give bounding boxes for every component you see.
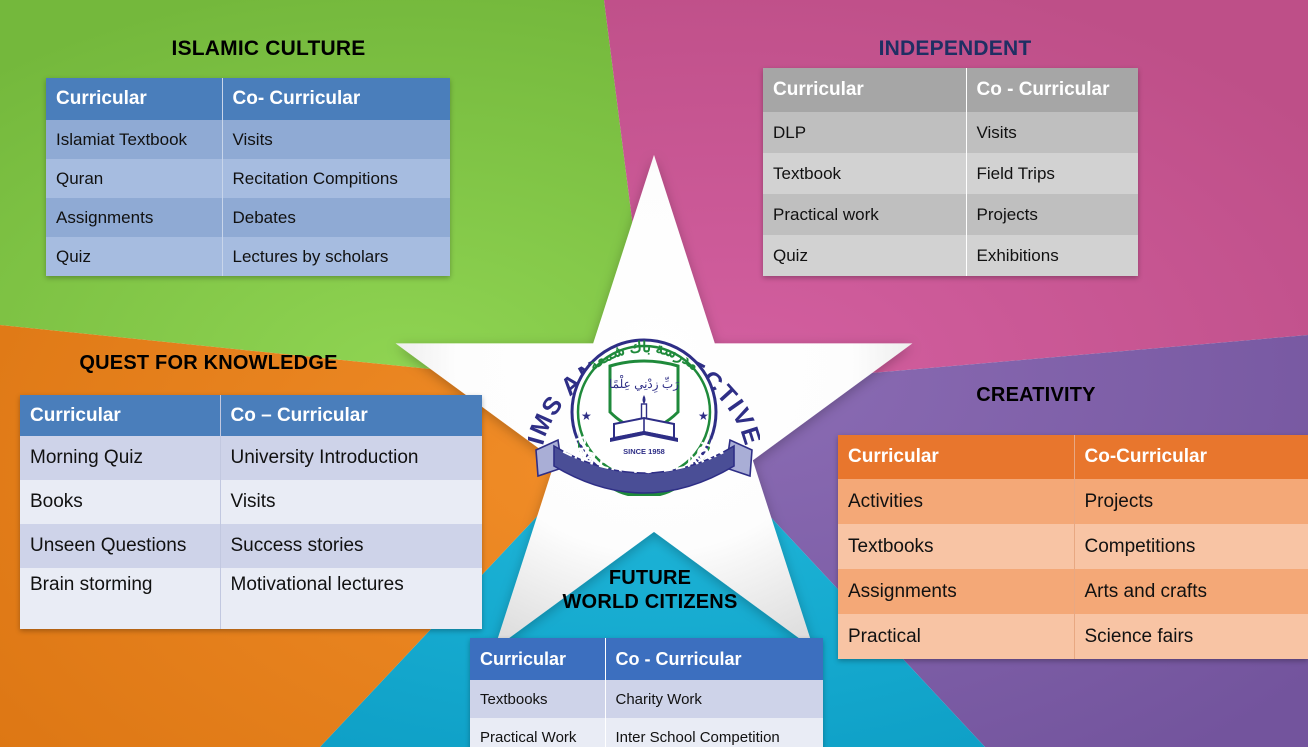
cell-curricular: Quran [46, 159, 222, 198]
table-row: Practical Science fairs [838, 614, 1308, 659]
column-header-co-curricular: Co - Curricular [966, 68, 1138, 112]
table-header-row: Curricular Co - Curricular [470, 638, 823, 680]
cell-curricular: Textbooks [470, 680, 605, 718]
table-independent: Curricular Co - Curricular DLP Visits Te… [763, 68, 1138, 276]
logo-arabic-motto: رَبِّ زِدْنِي عِلْمًا [609, 374, 679, 393]
table-row: DLP Visits [763, 112, 1138, 153]
cell-curricular: Books [20, 480, 220, 524]
table-header-row: Curricular Co - Curricular [763, 68, 1138, 112]
table-row: Assignments Debates [46, 198, 450, 237]
aims-and-objectives-infographic: AIMS AND OBJECTIVES مدرسة باك شمعة PAK S… [0, 0, 1308, 747]
table-row: Books Visits [20, 480, 482, 524]
column-header-co-curricular: Co-Curricular [1074, 435, 1308, 479]
logo-since-text: SINCE 1958 [623, 447, 665, 456]
cell-curricular: Islamiat Textbook [46, 120, 222, 159]
table-header-row: Curricular Co-Curricular [838, 435, 1308, 479]
cell-curricular: Assignments [838, 569, 1074, 614]
cell-co-curricular: Motivational lectures [220, 568, 482, 629]
column-header-curricular: Curricular [763, 68, 966, 112]
table-row: Textbook Field Trips [763, 153, 1138, 194]
cell-co-curricular: Inter School Competition [605, 718, 823, 747]
cell-co-curricular: Recitation Compitions [222, 159, 450, 198]
cell-co-curricular: Visits [222, 120, 450, 159]
cell-curricular: Quiz [46, 237, 222, 276]
cell-co-curricular: Lectures by scholars [222, 237, 450, 276]
table-row: Assignments Arts and crafts [838, 569, 1308, 614]
table-row: Textbooks Charity Work [470, 680, 823, 718]
cell-co-curricular: Debates [222, 198, 450, 237]
cell-co-curricular: Exhibitions [966, 235, 1138, 276]
table-row: Textbooks Competitions [838, 524, 1308, 569]
cell-co-curricular: Projects [966, 194, 1138, 235]
table-row: Quiz Lectures by scholars [46, 237, 450, 276]
column-header-curricular: Curricular [46, 78, 222, 120]
cell-curricular: DLP [763, 112, 966, 153]
table-header-row: Curricular Co- Curricular [46, 78, 450, 120]
cell-co-curricular: Field Trips [966, 153, 1138, 194]
table-row: Activities Projects [838, 479, 1308, 524]
table-row: Unseen Questions Success stories [20, 524, 482, 568]
cell-curricular: Unseen Questions [20, 524, 220, 568]
logo-star-right-icon: ★ [698, 409, 709, 423]
column-header-curricular: Curricular [470, 638, 605, 680]
cell-curricular: Activities [838, 479, 1074, 524]
cell-co-curricular: Projects [1074, 479, 1308, 524]
cell-co-curricular: Success stories [220, 524, 482, 568]
cell-co-curricular: Charity Work [605, 680, 823, 718]
column-header-curricular: Curricular [838, 435, 1074, 479]
section-title-islamic-culture: ISLAMIC CULTURE [96, 36, 441, 62]
cell-curricular: Assignments [46, 198, 222, 237]
section-title-independent: INDEPENDENT [805, 36, 1105, 62]
section-title-creativity: CREATIVITY [880, 383, 1192, 407]
column-header-co-curricular: Co – Curricular [220, 395, 482, 436]
cell-curricular: Practical work [763, 194, 966, 235]
column-header-co-curricular: Co - Curricular [605, 638, 823, 680]
cell-co-curricular: Visits [966, 112, 1138, 153]
cell-curricular: Quiz [763, 235, 966, 276]
cell-curricular: Brain storming [20, 568, 220, 629]
column-header-co-curricular: Co- Curricular [222, 78, 450, 120]
table-islamic-culture: Curricular Co- Curricular Islamiat Textb… [46, 78, 450, 276]
logo-star-left-icon: ★ [581, 409, 592, 423]
table-quest-for-knowledge: Curricular Co – Curricular Morning Quiz … [20, 395, 482, 629]
cell-curricular: Practical [838, 614, 1074, 659]
table-header-row: Curricular Co – Curricular [20, 395, 482, 436]
table-creativity: Curricular Co-Curricular Activities Proj… [838, 435, 1308, 659]
column-header-curricular: Curricular [20, 395, 220, 436]
table-row: Quran Recitation Compitions [46, 159, 450, 198]
table-row: Brain storming Motivational lectures [20, 568, 482, 629]
cell-co-curricular: Visits [220, 480, 482, 524]
cell-curricular: Textbooks [838, 524, 1074, 569]
cell-co-curricular: Science fairs [1074, 614, 1308, 659]
cell-curricular: Textbook [763, 153, 966, 194]
table-future-world-citizens: Curricular Co - Curricular Textbooks Cha… [470, 638, 823, 747]
section-title-future-world-citizens: FUTURE WORLD CITIZENS [500, 566, 800, 615]
school-logo: AIMS AND OBJECTIVES مدرسة باك شمعة PAK S… [528, 300, 760, 496]
table-row: Morning Quiz University Introduction [20, 436, 482, 480]
section-title-quest-for-knowledge: QUEST FOR KNOWLEDGE [36, 351, 381, 375]
cell-co-curricular: Arts and crafts [1074, 569, 1308, 614]
table-row: Practical work Projects [763, 194, 1138, 235]
cell-co-curricular: University Introduction [220, 436, 482, 480]
cell-curricular: Practical Work [470, 718, 605, 747]
table-row: Islamiat Textbook Visits [46, 120, 450, 159]
table-row: Practical Work Inter School Competition [470, 718, 823, 747]
cell-curricular: Morning Quiz [20, 436, 220, 480]
cell-co-curricular: Competitions [1074, 524, 1308, 569]
table-row: Quiz Exhibitions [763, 235, 1138, 276]
